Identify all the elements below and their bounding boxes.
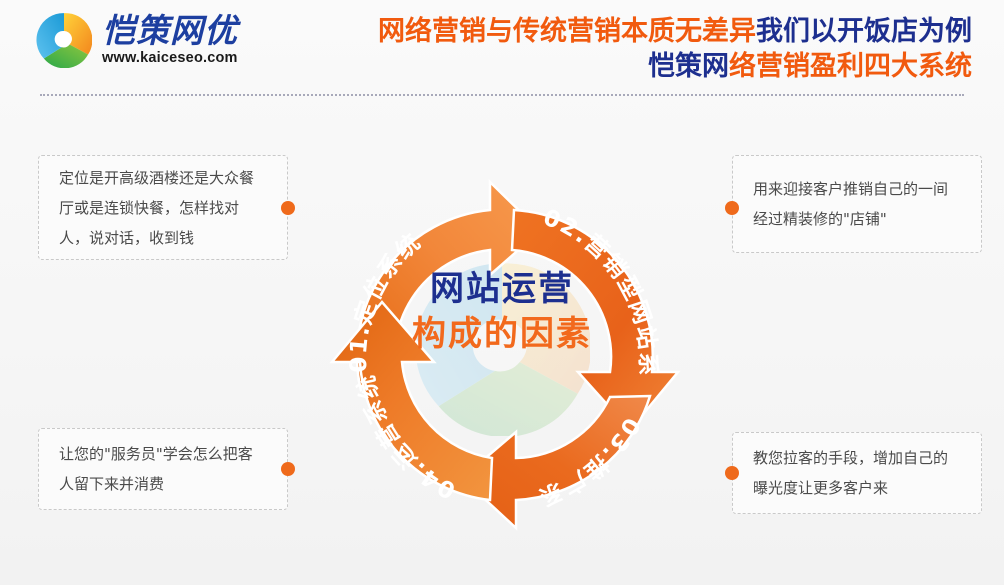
brand-logo-text: 恺策网优 www.kaiceseo.com — [102, 14, 238, 67]
connector-dot-bottom-right — [725, 466, 739, 480]
page-header: 恺策网优 www.kaiceseo.com 网络营销与传统营销本质无差异我们以开… — [0, 0, 1004, 95]
callout-bottom-right-text: 教您拉客的手段，增加自己的曝光度让更多客户来 — [733, 443, 981, 503]
headline: 网络营销与传统营销本质无差异我们以开饭店为例 恺策网络营销盈利四大系统 — [378, 14, 972, 84]
headline-line-1-blue: 我们以开饭店为例 — [756, 16, 972, 47]
brand-logo: 恺策网优 www.kaiceseo.com — [36, 12, 238, 68]
callout-top-left: 定位是开高级酒楼还是大众餐厅或是连锁快餐，怎样找对人，说对话，收到钱 — [38, 155, 288, 260]
connector-dot-bottom-left — [281, 462, 295, 476]
callout-top-right-text: 用来迎接客户推销自己的一间经过精装修的"店铺" — [733, 174, 981, 234]
callout-bottom-left: 让您的"服务员"学会怎么把客人留下来并消费 — [38, 428, 288, 510]
infographic-canvas: 恺策网优 www.kaiceseo.com 网络营销与传统营销本质无差异我们以开… — [0, 0, 1004, 585]
brand-name: 恺策网优 — [102, 14, 238, 49]
callout-top-left-text: 定位是开高级酒楼还是大众餐厅或是连锁快餐，怎样找对人，说对话，收到钱 — [39, 163, 287, 253]
connector-dot-top-left — [281, 201, 295, 215]
headline-line-2-blue: 恺策网 — [648, 51, 729, 82]
brand-url: www.kaiceseo.com — [102, 50, 238, 66]
header-divider — [40, 94, 964, 96]
callout-bottom-right: 教您拉客的手段，增加自己的曝光度让更多客户来 — [732, 432, 982, 514]
cycle-diagram: 01.定位系统 02.营销型网站系统 03.推广系统 04.运营系统 网站运营 … — [262, 100, 742, 570]
center-title-line-2: 构成的因素 — [262, 313, 742, 356]
headline-line-2: 恺策网络营销盈利四大系统 — [378, 49, 972, 84]
connector-dot-top-right — [725, 201, 739, 215]
headline-line-1-orange: 网络营销与传统营销本质无差异 — [378, 16, 756, 47]
pinwheel-logo-icon — [36, 12, 92, 68]
callout-top-right: 用来迎接客户推销自己的一间经过精装修的"店铺" — [732, 155, 982, 253]
headline-line-2-orange: 络营销盈利四大系统 — [729, 51, 972, 82]
center-title-line-1: 网站运营 — [262, 268, 742, 311]
center-title: 网站运营 构成的因素 — [262, 268, 742, 355]
callout-bottom-left-text: 让您的"服务员"学会怎么把客人留下来并消费 — [39, 439, 287, 499]
headline-line-1: 网络营销与传统营销本质无差异我们以开饭店为例 — [378, 14, 972, 49]
